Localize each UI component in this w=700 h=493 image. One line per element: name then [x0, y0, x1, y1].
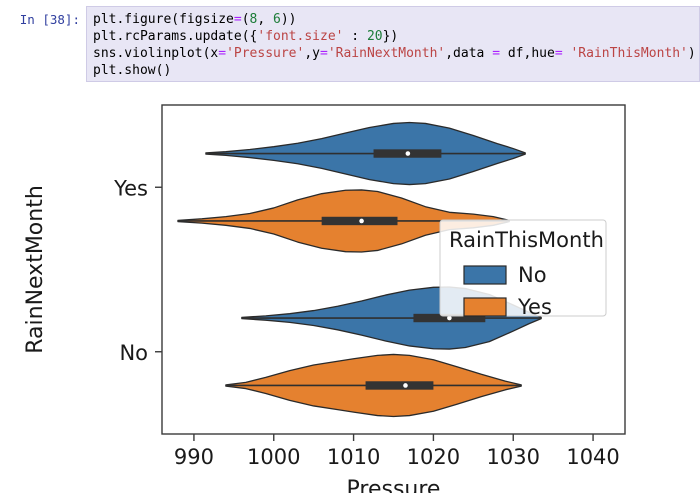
code-token: =: [234, 12, 242, 27]
code-token: (: [242, 12, 250, 27]
code-token: plt.rcParams.update({: [93, 29, 257, 44]
code-token: df,hue: [500, 46, 555, 61]
code-token: =: [555, 46, 563, 61]
code-token: ,y: [304, 46, 320, 61]
code-line-2: plt.rcParams.update({'font.size' : 20}): [93, 28, 699, 45]
x-tick-label: 1040: [566, 445, 619, 469]
legend-swatch-Yes[interactable]: [464, 298, 506, 316]
legend-label-Yes: Yes: [517, 295, 552, 319]
x-tick-label: 1010: [327, 445, 380, 469]
code-token: )): [281, 12, 297, 27]
y-tick-label: Yes: [113, 176, 148, 200]
code-token: 6: [273, 12, 281, 27]
cell-execution-prompt: In [38]:: [14, 12, 80, 27]
code-token: sns.violinplot(x: [93, 46, 218, 61]
legend-label-No: No: [518, 263, 547, 287]
violin-plot-figure: 99010001010102010301040PressureYesNoRain…: [0, 88, 700, 493]
x-tick-label: 1000: [247, 445, 300, 469]
code-token: =: [492, 46, 500, 61]
legend-swatch-No[interactable]: [464, 266, 506, 284]
code-token: =: [218, 46, 226, 61]
x-tick-label: 1030: [487, 445, 540, 469]
code-editor[interactable]: plt.figure(figsize=(8, 6))plt.rcParams.u…: [86, 6, 700, 82]
code-token: 20: [367, 29, 383, 44]
x-axis-title: Pressure: [347, 477, 441, 493]
violin-iqr-box: [366, 381, 434, 389]
notebook-input-cell: In [38]: plt.figure(figsize=(8, 6))plt.r…: [0, 0, 700, 88]
code-token: :: [343, 29, 366, 44]
code-token: =: [320, 46, 328, 61]
violin-median-dot: [403, 383, 408, 388]
y-axis-title: RainNextMonth: [23, 185, 48, 354]
violin-median-dot: [406, 151, 411, 156]
code-token: plt.show(): [93, 63, 171, 78]
code-token: }): [383, 29, 399, 44]
y-tick-label: No: [119, 341, 148, 365]
legend: RainThisMonthNoYes: [440, 220, 606, 319]
violin-plot-svg: 99010001010102010301040PressureYesNoRain…: [0, 88, 700, 493]
code-token: 'RainThisMonth': [570, 46, 687, 61]
x-tick-label: 1020: [407, 445, 460, 469]
code-token: 'Pressure': [226, 46, 304, 61]
legend-title: RainThisMonth: [449, 228, 604, 252]
x-tick-label: 990: [174, 445, 214, 469]
code-token: plt.figure(figsize: [93, 12, 234, 27]
violin-median-dot: [359, 219, 364, 224]
code-line-3: sns.violinplot(x='Pressure',y='RainNextM…: [93, 45, 699, 62]
code-line-4: plt.show(): [93, 62, 699, 79]
code-token: ,: [257, 12, 273, 27]
code-line-1: plt.figure(figsize=(8, 6)): [93, 11, 699, 28]
code-token: ): [688, 46, 696, 61]
code-token: 'RainNextMonth': [328, 46, 445, 61]
code-token: ,data: [445, 46, 492, 61]
code-token: 'font.size': [257, 29, 343, 44]
